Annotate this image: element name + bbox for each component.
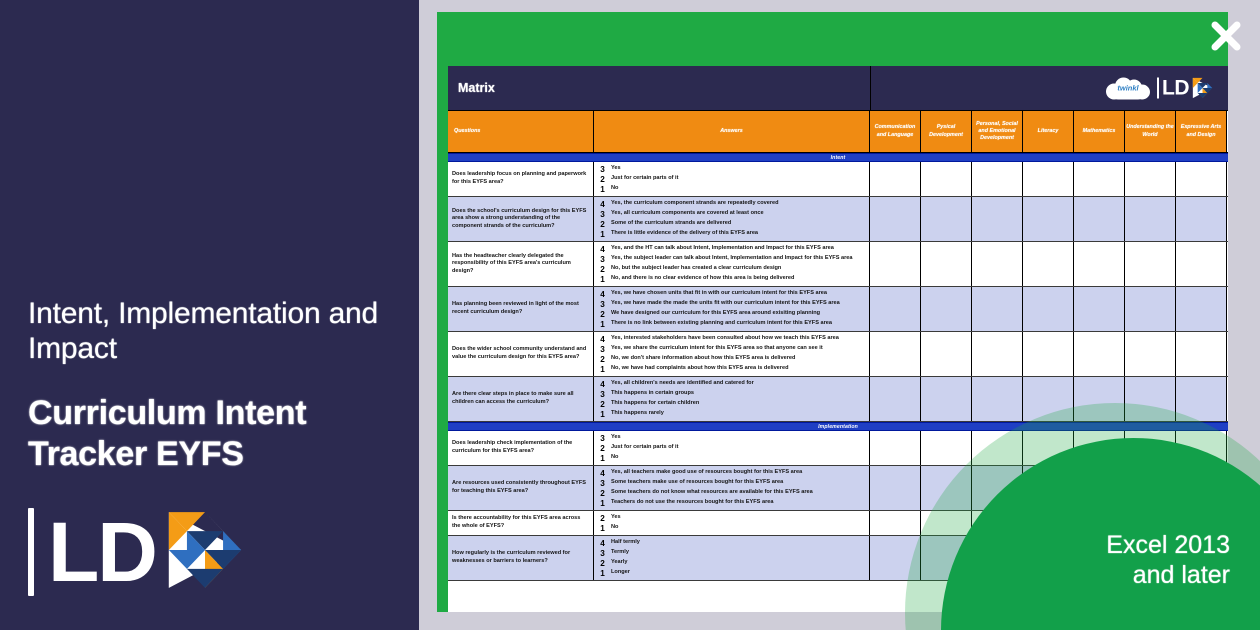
answer-text: Yes, the curriculum component strands ar…: [611, 200, 785, 207]
answer-option: 3Yes, the subject leader can talk about …: [594, 254, 869, 264]
col-header-category[interactable]: Mathematics: [1074, 111, 1125, 152]
question-cell[interactable]: Does leadership check implementation of …: [448, 431, 594, 465]
score-cell[interactable]: [1074, 197, 1125, 241]
answer-option: 4Yes, and the HT can talk about Intent, …: [594, 244, 869, 254]
answers-cell[interactable]: 4Yes, we have chosen units that fit in w…: [594, 287, 870, 331]
score-cell[interactable]: [1125, 242, 1176, 286]
answer-score: 2: [594, 400, 611, 409]
score-cell[interactable]: [1176, 162, 1227, 196]
badge-text: Excel 2013 and later: [1030, 531, 1230, 590]
score-cell[interactable]: [1074, 162, 1125, 196]
answer-option: 1No: [594, 184, 869, 194]
answer-option: 2No, we don't share information about ho…: [594, 354, 869, 364]
badge-line1: Excel 2013: [1030, 531, 1230, 561]
table-row[interactable]: Has planning been reviewed in light of t…: [448, 287, 1228, 332]
panel-title: Curriculum Intent Tracker EYFS: [28, 393, 408, 475]
score-cell[interactable]: [1176, 197, 1227, 241]
ld-small-play-triangle-icon: [1191, 77, 1214, 100]
question-cell[interactable]: Does leadership focus on planning and pa…: [448, 162, 594, 196]
answer-score: 1: [594, 230, 611, 239]
answer-text: Just for certain parts of it: [611, 175, 684, 182]
answer-score: 1: [594, 365, 611, 374]
answer-score: 2: [594, 489, 611, 498]
answer-score: 1: [594, 410, 611, 419]
answer-text: Yes, we share the curriculum intent for …: [611, 345, 829, 352]
answers-cell[interactable]: 4Yes, all teachers make good use of reso…: [594, 466, 870, 510]
sheet-title-bar: Matrix twinkl LD: [448, 66, 1228, 111]
section-band: Intent: [448, 153, 1228, 162]
score-cell[interactable]: [870, 242, 921, 286]
score-cell[interactable]: [972, 197, 1023, 241]
answer-text: We have designed our curriculum for this…: [611, 310, 826, 317]
answer-option: 3Yes: [594, 433, 869, 443]
brand-cluster: twinkl LD: [1106, 77, 1214, 100]
close-icon[interactable]: [1206, 16, 1246, 56]
answer-option: 4Yes, we have chosen units that fit in w…: [594, 289, 869, 299]
answer-text: Yes, all curriculum components are cover…: [611, 210, 770, 217]
question-cell[interactable]: Are resources used consistently througho…: [448, 466, 594, 510]
answer-option: 1There is no link between existing plann…: [594, 319, 869, 329]
answer-option: 2Yearly: [594, 558, 869, 568]
answer-score: 2: [594, 175, 611, 184]
question-cell[interactable]: Does the school's curriculum design for …: [448, 197, 594, 241]
answer-text: Yes, the subject leader can talk about I…: [611, 255, 859, 262]
score-cell[interactable]: [1074, 242, 1125, 286]
score-cell[interactable]: [921, 377, 972, 421]
col-header-category[interactable]: Pysical Development: [921, 111, 972, 152]
answer-text: No: [611, 524, 624, 531]
answer-text: This happens for certain children: [611, 400, 705, 407]
answer-option: 2This happens for certain children: [594, 399, 869, 409]
question-cell[interactable]: Has planning been reviewed in light of t…: [448, 287, 594, 331]
score-cell[interactable]: [870, 466, 921, 510]
score-cell[interactable]: [870, 332, 921, 376]
score-cell[interactable]: [972, 162, 1023, 196]
score-cell[interactable]: [1125, 197, 1176, 241]
answer-text: Yes, we have chosen units that fit in wi…: [611, 290, 833, 297]
answer-score: 4: [594, 335, 611, 344]
answer-text: This happens rarely: [611, 410, 670, 417]
table-row[interactable]: Does leadership focus on planning and pa…: [448, 162, 1228, 197]
answer-option: 3Some teachers make use of resources bou…: [594, 478, 869, 488]
score-cell[interactable]: [1125, 162, 1176, 196]
answer-text: Yes: [611, 434, 627, 441]
score-cell[interactable]: [1023, 197, 1074, 241]
left-panel-content: Intent, Implementation and Impact Curric…: [28, 296, 408, 598]
answer-text: No: [611, 454, 624, 461]
answer-text: No: [611, 185, 624, 192]
answer-score: 1: [594, 524, 611, 533]
ld-logo-bar: [28, 508, 34, 596]
sheet-title: Matrix: [458, 81, 495, 95]
answer-text: This happens in certain groups: [611, 390, 700, 397]
answer-score: 3: [594, 549, 611, 558]
answer-score: 4: [594, 200, 611, 209]
answer-option: 2Some of the curriculum strands are deli…: [594, 219, 869, 229]
answer-score: 4: [594, 539, 611, 548]
score-cell[interactable]: [1023, 332, 1074, 376]
col-header-category[interactable]: Communication and Language: [870, 111, 921, 152]
answer-score: 3: [594, 479, 611, 488]
answers-cell[interactable]: 4Yes, and the HT can talk about Intent, …: [594, 242, 870, 286]
col-header-answers[interactable]: Answers: [594, 111, 870, 152]
answer-text: Termly: [611, 549, 635, 556]
ld-logo-small: LD: [1157, 77, 1214, 100]
answer-text: There is little evidence of the delivery…: [611, 230, 764, 237]
answer-option: 2Some teachers do not know what resource…: [594, 488, 869, 498]
answer-option: 3Yes, we share the curriculum intent for…: [594, 344, 869, 354]
answer-score: 2: [594, 559, 611, 568]
score-cell[interactable]: [870, 162, 921, 196]
answer-option: 1No: [594, 523, 869, 533]
answer-text: No, and there is no clear evidence of ho…: [611, 275, 800, 282]
answer-text: No, we have had complaints about how thi…: [611, 365, 795, 372]
answer-option: 1Teachers do not use the resources bough…: [594, 498, 869, 508]
answer-text: Some teachers do not know what resources…: [611, 489, 819, 496]
answers-cell[interactable]: 2Yes1No: [594, 511, 870, 535]
answer-text: Teachers do not use the resources bought…: [611, 499, 779, 506]
answer-text: There is no link between existing planni…: [611, 320, 838, 327]
answer-text: Half termly: [611, 539, 646, 546]
score-cell[interactable]: [921, 287, 972, 331]
answers-cell[interactable]: 4Yes, interested stakeholders have been …: [594, 332, 870, 376]
score-cell[interactable]: [1023, 162, 1074, 196]
answer-option: 4Yes, interested stakeholders have been …: [594, 334, 869, 344]
score-cell[interactable]: [1176, 242, 1227, 286]
question-cell[interactable]: Are there clear steps in place to make s…: [448, 377, 594, 421]
answer-score: 1: [594, 454, 611, 463]
question-cell[interactable]: How regularly is the curriculum reviewed…: [448, 536, 594, 580]
answer-text: No, we don't share information about how…: [611, 355, 801, 362]
score-cell[interactable]: [1023, 287, 1074, 331]
answer-score: 3: [594, 300, 611, 309]
answer-score: 4: [594, 380, 611, 389]
answer-text: Yes: [611, 514, 627, 521]
table-row[interactable]: Does the school's curriculum design for …: [448, 197, 1228, 242]
answer-option: 1No: [594, 453, 869, 463]
score-cell[interactable]: [1023, 242, 1074, 286]
answer-text: Yes, all teachers make good use of resou…: [611, 469, 808, 476]
question-cell[interactable]: Has the headteacher clearly delegated th…: [448, 242, 594, 286]
answers-cell[interactable]: 4Half termly3Termly2Yearly1Longer: [594, 536, 870, 580]
ld-logo: LD: [28, 506, 408, 598]
answer-text: Just for certain parts of it: [611, 444, 684, 451]
section-band-label: Intent: [448, 154, 1228, 161]
score-cell[interactable]: [870, 197, 921, 241]
answer-option: 2Just for certain parts of it: [594, 174, 869, 184]
score-cell[interactable]: [870, 511, 921, 535]
answer-score: 1: [594, 499, 611, 508]
column-header-row: Questions Answers Communication and Lang…: [448, 111, 1228, 153]
answer-score: 3: [594, 165, 611, 174]
score-cell[interactable]: [1074, 332, 1125, 376]
answer-text: Some of the curriculum strands are deliv…: [611, 220, 737, 227]
score-cell[interactable]: [921, 162, 972, 196]
question-cell[interactable]: Is there accountability for this EYFS ar…: [448, 511, 594, 535]
score-cell[interactable]: [972, 242, 1023, 286]
answer-text: Yes, all children's needs are identified…: [611, 380, 760, 387]
col-header-questions[interactable]: Questions: [448, 111, 594, 152]
score-cell[interactable]: [972, 287, 1023, 331]
ld-logo-letters: LD: [48, 511, 156, 593]
answer-score: 2: [594, 220, 611, 229]
answer-score: 4: [594, 290, 611, 299]
panel-subtitle: Intent, Implementation and Impact: [28, 296, 408, 367]
score-cell[interactable]: [870, 287, 921, 331]
answer-option: 2Yes: [594, 513, 869, 523]
answer-option: 1There is little evidence of the deliver…: [594, 229, 869, 239]
twinkl-wordmark: twinkl: [1106, 77, 1150, 99]
col-header-category[interactable]: Personal, Social and Emotional Developme…: [972, 111, 1023, 152]
answer-score: 4: [594, 469, 611, 478]
score-cell[interactable]: [921, 242, 972, 286]
badge-line2: and later: [1030, 561, 1230, 591]
score-cell[interactable]: [870, 431, 921, 465]
answer-text: Yearly: [611, 559, 634, 566]
answer-score: 1: [594, 569, 611, 578]
score-cell[interactable]: [870, 377, 921, 421]
answer-score: 2: [594, 444, 611, 453]
answer-score: 4: [594, 245, 611, 254]
score-cell[interactable]: [1125, 287, 1176, 331]
answer-text: Some teachers make use of resources boug…: [611, 479, 789, 486]
col-header-category[interactable]: Expressive Arts and Design: [1176, 111, 1227, 152]
answer-score: 3: [594, 345, 611, 354]
score-cell[interactable]: [921, 197, 972, 241]
ld-play-triangle-icon: [162, 507, 248, 598]
ld-small-bar: [1157, 78, 1159, 99]
answer-option: 3Yes, we have made the made the units fi…: [594, 299, 869, 309]
answer-score: 2: [594, 310, 611, 319]
score-cell[interactable]: [1176, 287, 1227, 331]
answer-text: No, but the subject leader has created a…: [611, 265, 787, 272]
score-cell[interactable]: [1074, 287, 1125, 331]
panel-title-line2: Tracker EYFS: [28, 434, 408, 475]
answers-cell[interactable]: 4Yes, all children's needs are identifie…: [594, 377, 870, 421]
answer-text: Longer: [611, 569, 636, 576]
score-cell[interactable]: [921, 431, 972, 465]
answer-score: 2: [594, 514, 611, 523]
score-cell[interactable]: [921, 332, 972, 376]
answer-score: 1: [594, 185, 611, 194]
answer-option: 4Yes, the curriculum component strands a…: [594, 199, 869, 209]
answer-option: 4Yes, all teachers make good use of reso…: [594, 468, 869, 478]
title-divider: [870, 66, 871, 110]
table-row[interactable]: Does the wider school community understa…: [448, 332, 1228, 377]
answer-score: 3: [594, 434, 611, 443]
answer-text: Yes, we have made the made the units fit…: [611, 300, 846, 307]
answers-cell[interactable]: 3Yes2Just for certain parts of it1No: [594, 162, 870, 196]
question-cell[interactable]: Does the wider school community understa…: [448, 332, 594, 376]
answer-option: 1Longer: [594, 568, 869, 578]
answer-text: Yes: [611, 165, 627, 172]
answer-option: 4Half termly: [594, 538, 869, 548]
score-cell[interactable]: [972, 332, 1023, 376]
answers-cell[interactable]: 3Yes2Just for certain parts of it1No: [594, 431, 870, 465]
ld-small-letters: LD: [1162, 78, 1189, 98]
col-header-category[interactable]: Literacy: [1023, 111, 1074, 152]
answer-option: 2Just for certain parts of it: [594, 443, 869, 453]
twinkl-logo-icon: twinkl: [1106, 77, 1150, 99]
col-header-category[interactable]: Understanding the World: [1125, 111, 1176, 152]
answer-score: 2: [594, 265, 611, 274]
score-cell[interactable]: [1176, 332, 1227, 376]
answer-option: 1No, we have had complaints about how th…: [594, 364, 869, 374]
answer-score: 2: [594, 355, 611, 364]
answer-score: 3: [594, 390, 611, 399]
answers-cell[interactable]: 4Yes, the curriculum component strands a…: [594, 197, 870, 241]
answer-option: 2No, but the subject leader has created …: [594, 264, 869, 274]
answer-score: 1: [594, 275, 611, 284]
answer-option: 3This happens in certain groups: [594, 389, 869, 399]
answer-option: 1No, and there is no clear evidence of h…: [594, 274, 869, 284]
answer-text: Yes, and the HT can talk about Intent, I…: [611, 245, 840, 252]
left-title-panel: Intent, Implementation and Impact Curric…: [0, 0, 419, 630]
answer-option: 4Yes, all children's needs are identifie…: [594, 379, 869, 389]
answer-score: 3: [594, 255, 611, 264]
score-cell[interactable]: [972, 377, 1023, 421]
answer-text: Yes, interested stakeholders have been c…: [611, 335, 845, 342]
answer-score: 3: [594, 210, 611, 219]
answer-option: 1This happens rarely: [594, 409, 869, 419]
answer-score: 1: [594, 320, 611, 329]
answer-option: 3Yes: [594, 164, 869, 174]
score-cell[interactable]: [1125, 332, 1176, 376]
panel-title-line1: Curriculum Intent: [28, 393, 408, 434]
answer-option: 2We have designed our curriculum for thi…: [594, 309, 869, 319]
answer-option: 3Termly: [594, 548, 869, 558]
table-row[interactable]: Has the headteacher clearly delegated th…: [448, 242, 1228, 287]
answer-option: 3Yes, all curriculum components are cove…: [594, 209, 869, 219]
